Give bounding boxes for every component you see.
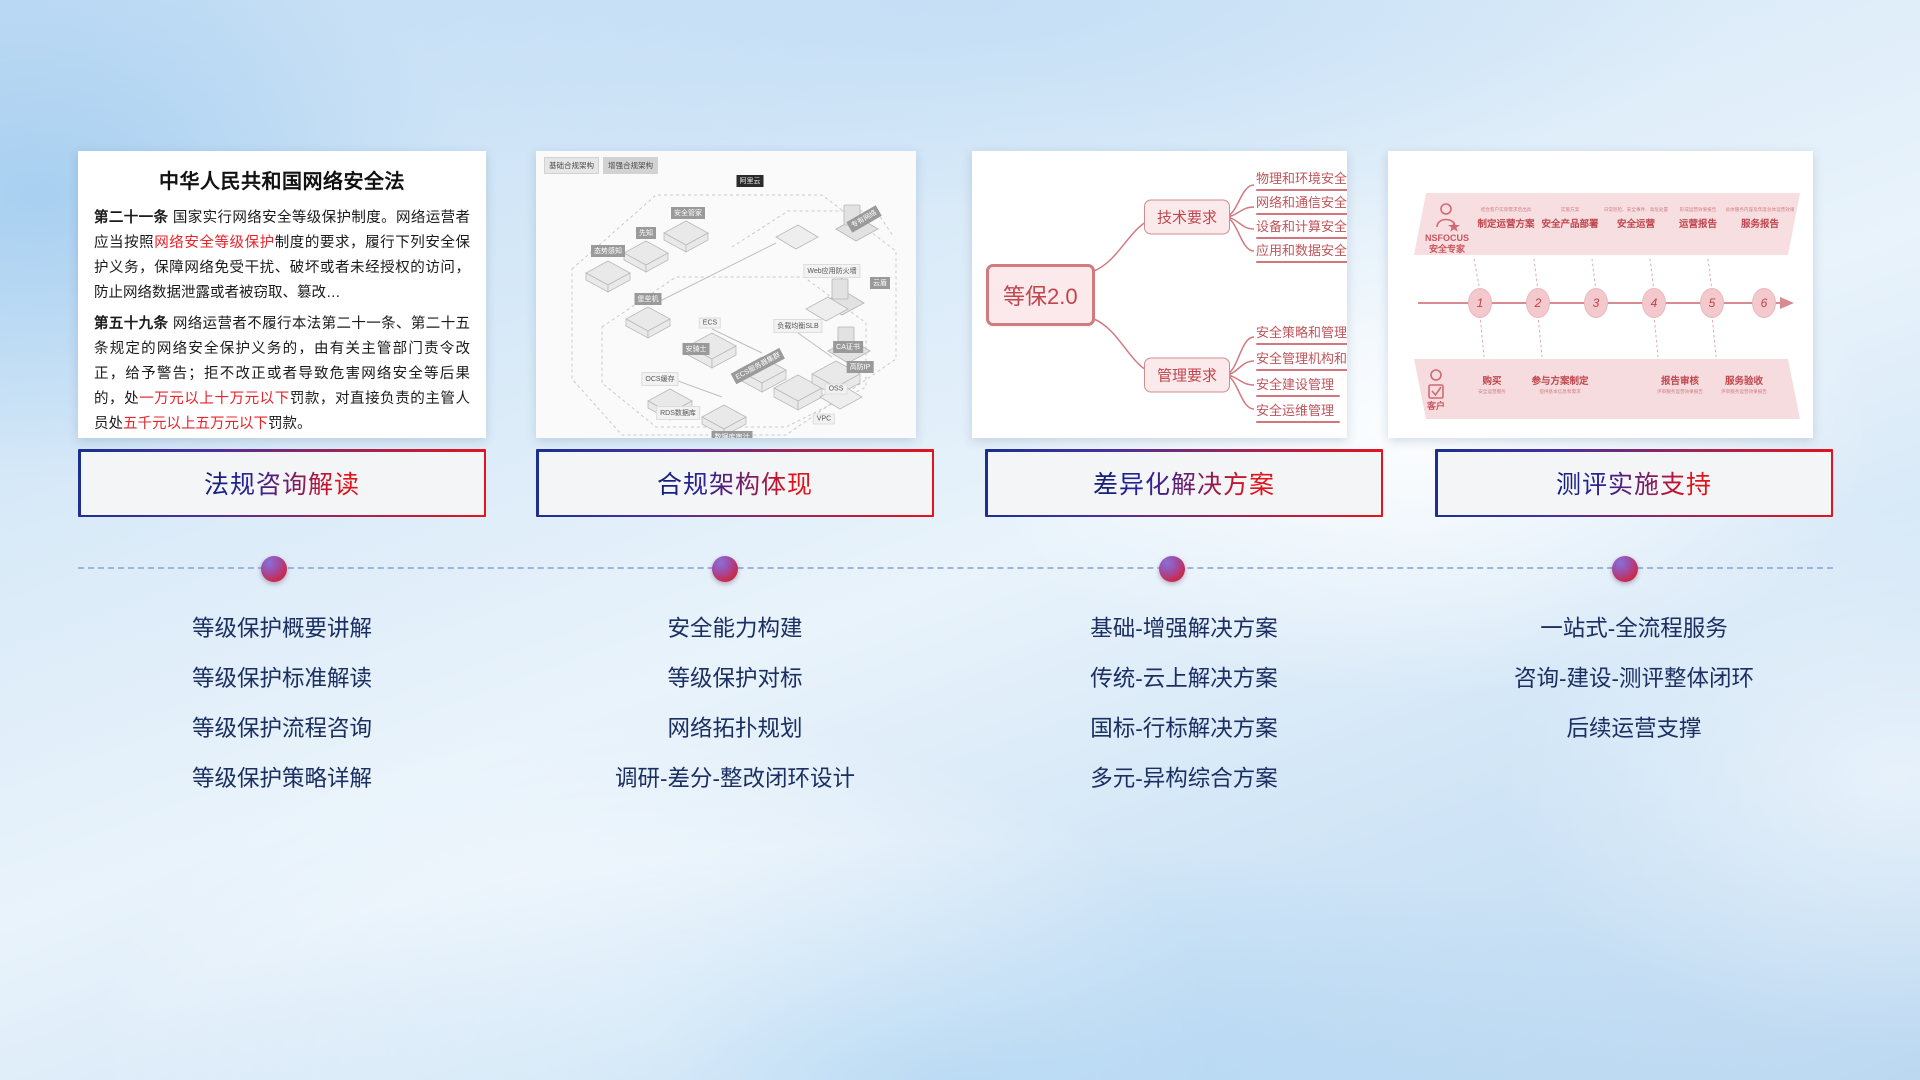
section-item: 基础-增强解决方案 — [985, 604, 1383, 654]
timeline-bottom-step: 报告审核 评审服务运营效果报告 — [1657, 373, 1703, 395]
law-article-label: 第五十九条 — [94, 316, 168, 332]
section-heading-box-2[interactable]: 合规架构体现 — [536, 449, 934, 517]
mindmap-branch-management: 管理要求 — [1144, 358, 1230, 393]
timeline-marker-dot-1[interactable] — [261, 556, 287, 582]
timeline-top-step: 总体服务内容及年度总体运营效果 服务报告 — [1726, 207, 1795, 230]
node-label: 安骑士 — [683, 343, 710, 355]
step-sub: 评审服务运营效果报告 — [1657, 389, 1703, 395]
node-label: OCS缓存 — [641, 372, 678, 386]
mindmap-leaf: 应用和数据安全 — [1256, 240, 1347, 262]
section-items-1: 等级保护概要讲解 等级保护标准解读 等级保护流程咨询 等级保护策略详解 — [78, 604, 486, 804]
mindmap-branch-technical: 技术要求 — [1144, 200, 1230, 235]
section-item: 调研-差分-整改闭环设计 — [536, 754, 934, 804]
step-main: 服务报告 — [1726, 216, 1795, 230]
node-label: 安全管家 — [671, 207, 705, 219]
timeline-top-step: 形成运营效果报告 运营报告 — [1679, 207, 1717, 230]
law-run: 罚款。 — [268, 416, 312, 432]
node-label: 先知 — [636, 227, 656, 239]
step-main: 制定运营方案 — [1477, 216, 1534, 230]
expert-label-line2: 安全专家 — [1418, 244, 1476, 255]
mindmap-leaf: 物理和环境安全 — [1256, 168, 1347, 190]
section-heading-label: 合规架构体现 — [657, 465, 813, 501]
isometric-blocks — [586, 205, 878, 436]
step-main: 参与方案制定 — [1531, 373, 1588, 387]
step-sub: 提供基本信息和需求 — [1531, 389, 1588, 395]
step-main: 安全产品部署 — [1541, 216, 1598, 230]
mindmap-leaf: 安全策略和管理制度 — [1256, 322, 1347, 344]
section-item: 等级保护流程咨询 — [78, 704, 486, 754]
node-label: 数据库审计 — [712, 431, 753, 438]
section-heading-label: 法规咨询解读 — [204, 465, 360, 501]
section-item: 等级保护标准解读 — [78, 654, 486, 704]
timeline-top-step: 日常巡检、安全事件、高危处置 安全运营 — [1604, 207, 1668, 230]
timeline-bottom-step: 服务验收 评审服务运营效果报告 — [1721, 373, 1767, 395]
law-body: 中华人民共和国网络安全法 第二十一条 国家实行网络安全等级保护制度。网络运营者应… — [78, 151, 486, 438]
section-item: 多元-异构综合方案 — [985, 754, 1383, 804]
section-item: 传统-云上解决方案 — [985, 654, 1383, 704]
timeline-bottom-step: 参与方案制定 提供基本信息和需求 — [1531, 373, 1588, 395]
step-sub: 实施方案 — [1541, 207, 1598, 213]
section-item: 国标-行标解决方案 — [985, 704, 1383, 754]
architecture-connectors — [536, 151, 916, 438]
section-heading-inner: 法规咨询解读 — [81, 452, 484, 515]
step-main: 报告审核 — [1657, 373, 1703, 387]
mindmap-leaf: 安全运维管理 — [1256, 400, 1334, 422]
law-run-highlight: 五千元以上五万元以下 — [123, 416, 268, 432]
mindmap-root-node: 等保2.0 — [986, 264, 1095, 326]
mindmap-leaf: 安全建设管理 — [1256, 374, 1334, 396]
node-label: 云盾 — [870, 277, 890, 289]
step-sub: 形成运营效果报告 — [1679, 207, 1717, 213]
timeline-bottom-step: 购买 安全运营服务 — [1478, 373, 1506, 395]
card-mindmap: 等保2.0 技术要求 管理要求 物理和环境安全 网络和通信安全 设备和计算安全 … — [972, 151, 1347, 438]
law-paragraph-59: 第五十九条 网络运营者不履行本法第二十一条、第二十五条规定的网络安全保护义务的，… — [94, 312, 470, 437]
law-title: 中华人民共和国网络安全法 — [94, 165, 470, 194]
timeline-marker-dot-3[interactable] — [1159, 556, 1185, 582]
timeline-top-step: 结合客户实际需求后出具 制定运营方案 — [1477, 207, 1534, 230]
section-item: 后续运营支撑 — [1435, 704, 1833, 754]
step-main: 运营报告 — [1679, 216, 1717, 230]
node-label: OSS — [825, 384, 848, 395]
customer-label-line1: 客户 — [1414, 401, 1458, 412]
section-heading-label: 差异化解决方案 — [1093, 465, 1275, 501]
customer-label: 客户 — [1414, 401, 1458, 412]
step-main: 安全运营 — [1604, 216, 1668, 230]
card-compliance-architecture: 基础合规架构 增强合规架构 — [536, 151, 916, 438]
law-run-highlight: 一万元以上十万元以下 — [139, 391, 290, 407]
architecture-diagram: 基础合规架构 增强合规架构 — [536, 151, 916, 438]
service-timeline: NSFOCUS 安全专家 客户 结合客户实际需求后出具 制定运营方案 实施方案 … — [1388, 151, 1813, 438]
card-service-timeline: NSFOCUS 安全专家 客户 结合客户实际需求后出具 制定运营方案 实施方案 … — [1388, 151, 1813, 438]
law-paragraph-21: 第二十一条 国家实行网络安全等级保护制度。网络运营者应当按照网络安全等级保护制度… — [94, 206, 470, 306]
section-heading-label: 测评实施支持 — [1556, 465, 1712, 501]
section-items-3: 基础-增强解决方案 传统-云上解决方案 国标-行标解决方案 多元-异构综合方案 — [985, 604, 1383, 804]
expert-label: NSFOCUS 安全专家 — [1418, 233, 1476, 255]
node-label: VPC — [813, 414, 835, 425]
section-heading-inner: 测评实施支持 — [1438, 452, 1831, 515]
section-items-4: 一站式-全流程服务 咨询-建设-测评整体闭环 后续运营支撑 — [1435, 604, 1833, 754]
node-label: 阿里云 — [737, 175, 764, 187]
section-item: 安全能力构建 — [536, 604, 934, 654]
timeline-node: 3 — [1584, 288, 1608, 318]
timeline-node: 6 — [1752, 288, 1776, 318]
node-label: 高防IP — [847, 361, 874, 373]
node-label: Web应用防火墙 — [803, 264, 860, 278]
mindmap: 等保2.0 技术要求 管理要求 物理和环境安全 网络和通信安全 设备和计算安全 … — [972, 151, 1347, 438]
section-item: 一站式-全流程服务 — [1435, 604, 1833, 654]
section-item: 等级保护策略详解 — [78, 754, 486, 804]
step-main: 购买 — [1478, 373, 1506, 387]
step-sub: 结合客户实际需求后出具 — [1477, 207, 1534, 213]
timeline-node: 2 — [1526, 288, 1550, 318]
section-heading-box-1[interactable]: 法规咨询解读 — [78, 449, 486, 517]
node-label: RDS数据库 — [656, 406, 700, 420]
node-label: 堡垒机 — [635, 293, 662, 305]
timeline-dashed-divider — [78, 567, 1833, 569]
step-sub: 日常巡检、安全事件、高危处置 — [1604, 207, 1668, 213]
section-heading-box-3[interactable]: 差异化解决方案 — [985, 449, 1383, 517]
mindmap-leaf: 安全管理机构和人员 — [1256, 348, 1347, 370]
section-items-2: 安全能力构建 等级保护对标 网络拓扑规划 调研-差分-整改闭环设计 — [536, 604, 934, 804]
card-law-excerpt: 中华人民共和国网络安全法 第二十一条 国家实行网络安全等级保护制度。网络运营者应… — [78, 151, 486, 438]
law-article-label: 第二十一条 — [94, 210, 168, 226]
node-label: ECS — [699, 318, 721, 329]
section-heading-inner: 合规架构体现 — [539, 452, 932, 515]
step-sub: 评审服务运营效果报告 — [1721, 389, 1767, 395]
section-heading-box-4[interactable]: 测评实施支持 — [1435, 449, 1833, 517]
step-main: 服务验收 — [1721, 373, 1767, 387]
timeline-top-step: 实施方案 安全产品部署 — [1541, 207, 1598, 230]
timeline-marker-dot-4[interactable] — [1612, 556, 1638, 582]
step-sub: 总体服务内容及年度总体运营效果 — [1726, 207, 1795, 213]
section-heading-inner: 差异化解决方案 — [988, 452, 1381, 515]
node-label: 负载均衡SLB — [773, 319, 822, 333]
step-sub: 安全运营服务 — [1478, 389, 1506, 395]
expert-label-line1: NSFOCUS — [1418, 233, 1476, 244]
section-item: 等级保护概要讲解 — [78, 604, 486, 654]
section-item: 网络拓扑规划 — [536, 704, 934, 754]
section-item: 咨询-建设-测评整体闭环 — [1435, 654, 1833, 704]
law-run-highlight: 网络安全等级保护 — [154, 235, 275, 251]
node-label: CA证书 — [833, 341, 863, 353]
timeline-node: 5 — [1700, 288, 1724, 318]
timeline-marker-dot-2[interactable] — [712, 556, 738, 582]
section-item: 等级保护对标 — [536, 654, 934, 704]
timeline-node: 1 — [1468, 288, 1492, 318]
card-row: 中华人民共和国网络安全法 第二十一条 国家实行网络安全等级保护制度。网络运营者应… — [0, 0, 1920, 1080]
node-label: 态势感知 — [591, 245, 625, 257]
mindmap-leaf: 设备和计算安全 — [1256, 216, 1347, 238]
timeline-node: 4 — [1642, 288, 1666, 318]
mindmap-leaf: 网络和通信安全 — [1256, 192, 1347, 214]
